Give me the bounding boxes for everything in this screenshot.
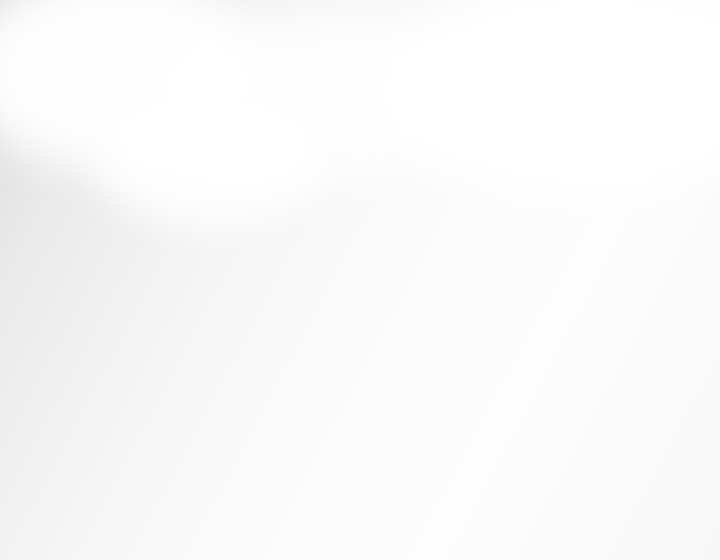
mission-hero-banner: 使命 Mission 物信融合 芯动未来 Cloud-side integrat… xyxy=(0,0,720,560)
sky-background xyxy=(0,0,720,560)
